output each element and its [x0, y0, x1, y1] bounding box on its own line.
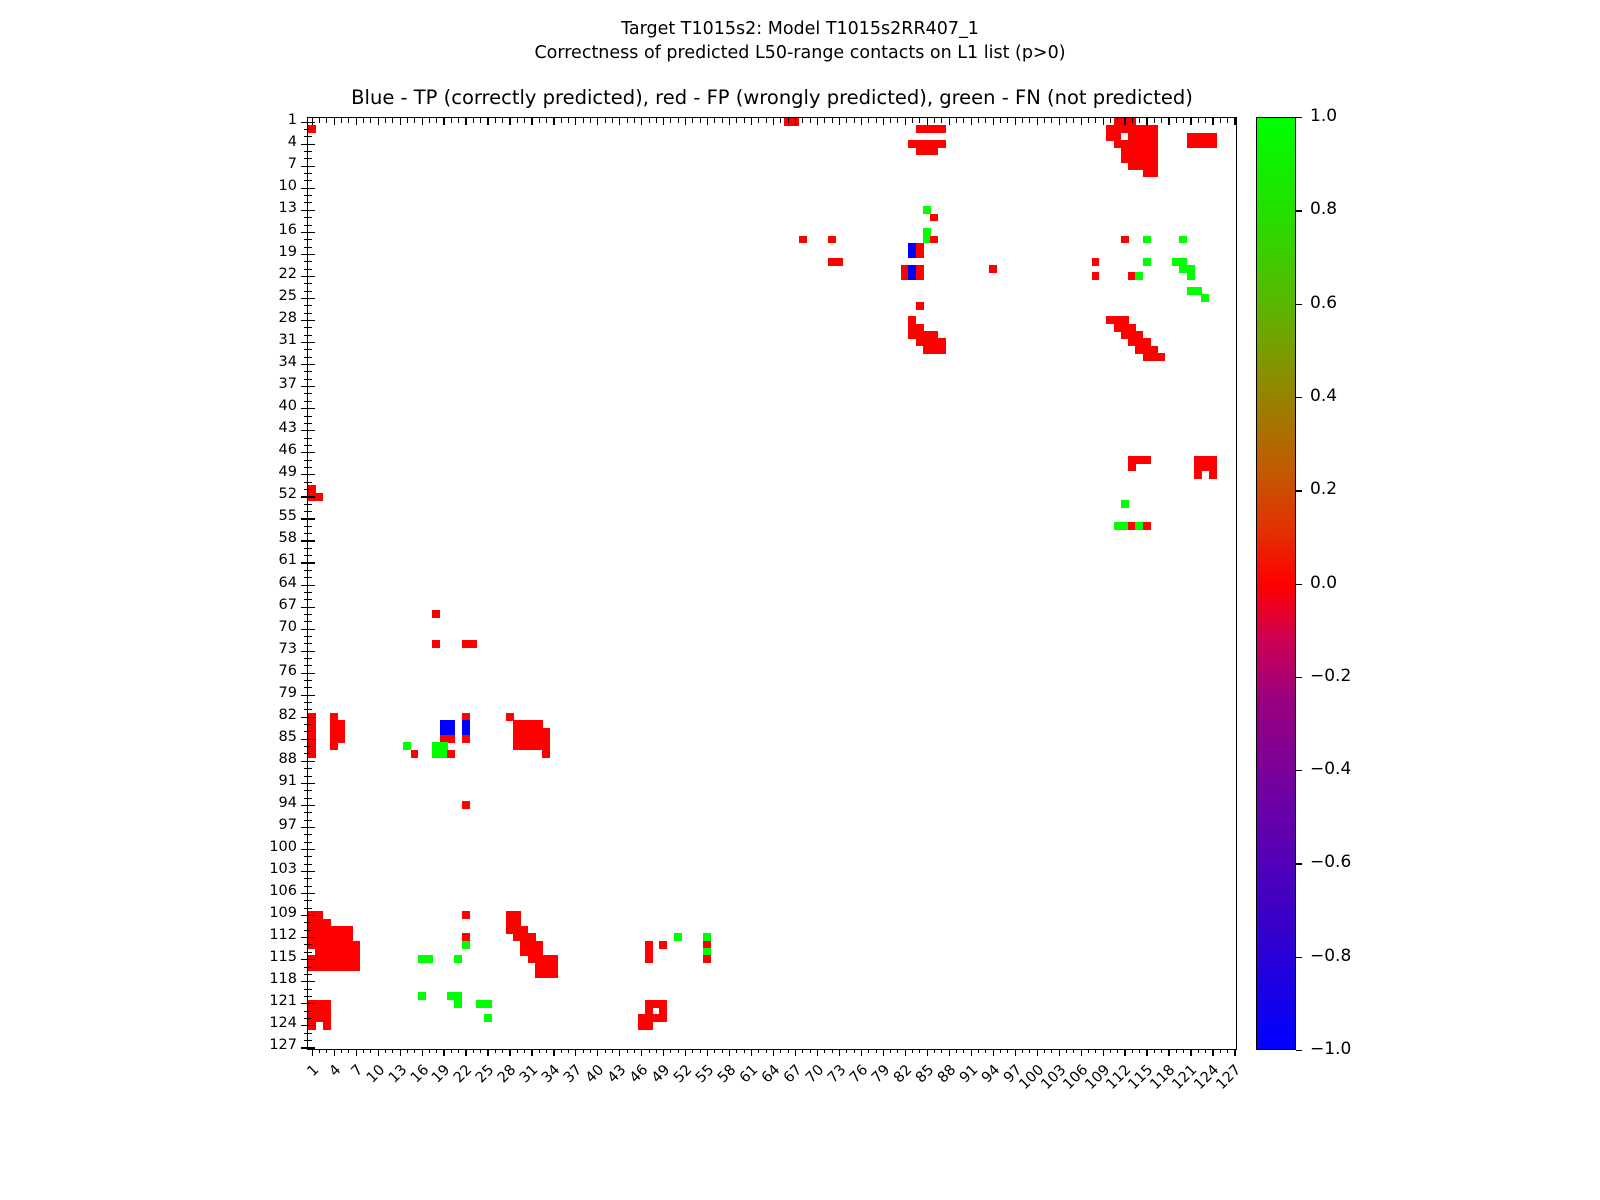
x-tick-minor — [678, 1049, 679, 1053]
y-tick-label: 4 — [0, 134, 297, 150]
x-tick-minor — [363, 1049, 364, 1053]
x-tick-top — [429, 118, 430, 123]
y-tick-inner — [308, 166, 315, 167]
x-tick-minor — [407, 1049, 408, 1053]
x-tick-minor — [744, 1049, 745, 1053]
y-tick-major — [301, 629, 308, 630]
y-tick-inner — [308, 555, 312, 556]
y-tick-label: 16 — [0, 222, 297, 238]
y-tick-inner — [308, 511, 312, 512]
x-tick-minor — [810, 1049, 811, 1053]
colorbar — [1256, 117, 1296, 1050]
x-tick-major — [949, 1049, 950, 1056]
y-tick-major — [301, 761, 308, 762]
contact-cell — [542, 750, 550, 758]
y-tick-label: 115 — [0, 949, 297, 965]
x-tick-top — [773, 118, 774, 125]
y-tick-inner — [308, 460, 312, 461]
y-tick-label: 13 — [0, 200, 297, 216]
y-tick-inner — [308, 158, 312, 159]
y-tick-inner — [308, 540, 315, 541]
x-tick-major — [883, 1049, 884, 1056]
colorbar-tick-label: −0.8 — [1310, 946, 1351, 966]
x-tick-top — [692, 118, 693, 123]
x-tick-top — [612, 118, 613, 123]
x-tick-top — [1220, 118, 1221, 123]
x-tick-minor — [868, 1049, 869, 1053]
y-tick-label: 1 — [0, 112, 297, 128]
y-tick-label: 106 — [0, 883, 297, 899]
y-tick-major — [301, 518, 308, 519]
contact-cell — [323, 1022, 331, 1030]
x-tick-top — [348, 118, 349, 123]
y-tick-inner — [308, 151, 312, 152]
y-tick-major — [301, 342, 308, 343]
x-tick-top — [839, 118, 840, 125]
x-tick-major — [817, 1049, 818, 1056]
contact-cell — [315, 493, 323, 501]
x-tick-top — [1234, 118, 1235, 125]
y-tick-inner — [308, 269, 312, 270]
x-tick-top — [1073, 118, 1074, 123]
x-tick-major — [971, 1049, 972, 1056]
contact-cell — [1135, 272, 1143, 280]
x-tick-major — [685, 1049, 686, 1056]
x-tick-major — [1212, 1049, 1213, 1056]
y-tick-inner — [308, 717, 315, 718]
y-tick-inner — [308, 768, 312, 769]
y-tick-inner — [308, 908, 312, 909]
y-tick-inner — [308, 1011, 312, 1012]
y-tick-label: 19 — [0, 244, 297, 260]
x-tick-top — [414, 118, 415, 123]
x-tick-top — [385, 118, 386, 123]
x-tick-top — [1146, 118, 1147, 125]
x-tick-top — [993, 118, 994, 125]
y-tick-inner — [308, 967, 312, 968]
y-tick-inner — [308, 731, 312, 732]
x-tick-top — [949, 118, 950, 125]
x-tick-top — [876, 118, 877, 123]
x-tick-top — [1124, 118, 1125, 125]
colorbar-tick — [1296, 210, 1302, 211]
x-tick-top — [1212, 118, 1213, 125]
x-tick-top — [1132, 118, 1133, 123]
x-tick-minor — [846, 1049, 847, 1053]
y-tick-inner — [308, 629, 315, 630]
y-tick-inner — [308, 239, 312, 240]
contact-cell — [418, 992, 426, 1000]
y-tick-major — [301, 1025, 308, 1026]
x-tick-top — [473, 118, 474, 123]
suptitle-line-1: Target T1015s2: Model T1015s2RR407_1 — [621, 19, 979, 39]
y-tick-major — [301, 673, 308, 674]
x-tick-top — [1227, 118, 1228, 123]
contact-cell — [1121, 500, 1129, 508]
colorbar-tick-label: 0.4 — [1310, 386, 1337, 406]
y-tick-inner — [308, 709, 312, 710]
y-tick-inner — [308, 592, 312, 593]
x-tick-minor — [1132, 1049, 1133, 1053]
y-tick-label: 85 — [0, 729, 297, 745]
x-tick-minor — [1183, 1049, 1184, 1053]
x-tick-minor — [714, 1049, 715, 1053]
y-tick-inner — [308, 430, 315, 431]
x-tick-minor — [912, 1049, 913, 1053]
x-tick-minor — [348, 1049, 349, 1053]
x-tick-top — [751, 118, 752, 125]
x-tick-major — [356, 1049, 357, 1056]
x-tick-top — [824, 118, 825, 123]
y-tick-inner — [308, 423, 312, 424]
y-tick-label: 31 — [0, 332, 297, 348]
y-tick-inner — [308, 225, 312, 226]
y-tick-inner — [308, 379, 312, 380]
y-tick-label: 97 — [0, 817, 297, 833]
x-tick-minor — [634, 1049, 635, 1053]
x-tick-major — [1234, 1049, 1235, 1056]
y-tick-inner — [308, 658, 312, 659]
colorbar-tick — [1296, 957, 1302, 958]
y-tick-label: 127 — [0, 1037, 297, 1053]
y-tick-major — [301, 849, 308, 850]
y-tick-label: 112 — [0, 927, 297, 943]
y-tick-inner — [308, 210, 315, 211]
x-tick-top — [1066, 118, 1067, 123]
y-tick-major — [301, 805, 308, 806]
y-tick-inner — [308, 805, 315, 806]
y-tick-major — [301, 276, 308, 277]
y-tick-inner — [308, 761, 315, 762]
y-tick-inner — [308, 864, 312, 865]
y-tick-label: 25 — [0, 288, 297, 304]
x-tick-minor — [919, 1049, 920, 1053]
contact-cell — [1194, 471, 1202, 479]
contact-cell — [411, 750, 419, 758]
x-tick-top — [766, 118, 767, 123]
x-tick-top — [641, 118, 642, 125]
x-tick-top — [341, 118, 342, 123]
y-tick-inner — [308, 871, 315, 872]
colorbar-tick — [1296, 490, 1302, 491]
x-tick-top — [883, 118, 884, 125]
y-tick-inner — [308, 607, 315, 608]
y-tick-inner — [308, 974, 312, 975]
x-tick-minor — [341, 1049, 342, 1053]
contact-map-matrix — [308, 118, 1236, 1049]
contact-cell — [425, 955, 433, 963]
y-tick-inner — [308, 173, 312, 174]
x-tick-major — [1124, 1049, 1125, 1056]
x-tick-minor — [1227, 1049, 1228, 1053]
x-tick-major — [707, 1049, 708, 1056]
contact-cell — [1114, 522, 1122, 530]
x-tick-top — [1037, 118, 1038, 125]
x-tick-minor — [436, 1049, 437, 1053]
x-tick-minor — [561, 1049, 562, 1053]
y-tick-inner — [308, 585, 315, 586]
x-tick-minor — [985, 1049, 986, 1053]
x-tick-minor — [392, 1049, 393, 1053]
y-tick-label: 67 — [0, 597, 297, 613]
y-tick-label: 70 — [0, 619, 297, 635]
x-tick-minor — [612, 1049, 613, 1053]
x-tick-top — [363, 118, 364, 123]
y-tick-label: 40 — [0, 398, 297, 414]
x-tick-minor — [854, 1049, 855, 1053]
x-tick-top — [905, 118, 906, 125]
contact-cell — [1187, 272, 1195, 280]
y-tick-label: 49 — [0, 464, 297, 480]
y-tick-label: 94 — [0, 795, 297, 811]
x-tick-top — [890, 118, 891, 123]
y-tick-inner — [308, 842, 312, 843]
x-tick-top — [1198, 118, 1199, 123]
colorbar-tick — [1296, 863, 1302, 864]
y-tick-inner — [308, 136, 312, 137]
x-tick-major — [861, 1049, 862, 1056]
y-tick-major — [301, 540, 308, 541]
y-tick-inner — [308, 144, 315, 145]
y-tick-major — [301, 695, 308, 696]
y-tick-major — [301, 562, 308, 563]
x-tick-minor — [700, 1049, 701, 1053]
x-tick-top — [531, 118, 532, 125]
y-tick-label: 109 — [0, 905, 297, 921]
x-tick-minor — [934, 1049, 935, 1053]
x-tick-minor — [1073, 1049, 1074, 1053]
y-tick-inner — [308, 1025, 315, 1026]
y-tick-major — [301, 651, 308, 652]
y-tick-inner — [308, 577, 312, 578]
contact-cell — [659, 941, 667, 949]
x-tick-top — [1161, 118, 1162, 123]
x-tick-minor — [1110, 1049, 1111, 1053]
x-tick-top — [1029, 118, 1030, 123]
y-tick-inner — [308, 695, 315, 696]
x-tick-minor — [480, 1049, 481, 1053]
x-tick-top — [649, 118, 650, 123]
x-tick-minor — [473, 1049, 474, 1053]
y-tick-major — [301, 474, 308, 475]
x-tick-minor — [1176, 1049, 1177, 1053]
x-tick-top — [919, 118, 920, 123]
contact-cell — [835, 258, 843, 266]
x-tick-top — [678, 118, 679, 123]
y-tick-label: 118 — [0, 971, 297, 987]
contact-cell — [1092, 272, 1100, 280]
x-tick-minor — [1022, 1049, 1023, 1053]
y-tick-inner — [308, 614, 312, 615]
y-tick-inner — [308, 959, 315, 960]
x-tick-top — [1176, 118, 1177, 123]
contact-cell — [447, 735, 455, 743]
x-tick-top — [465, 118, 466, 125]
x-tick-major — [993, 1049, 994, 1056]
x-tick-major — [334, 1049, 335, 1056]
x-tick-minor — [1220, 1049, 1221, 1053]
contact-cell — [447, 750, 455, 758]
y-tick-major — [301, 607, 308, 608]
x-tick-minor — [1117, 1049, 1118, 1053]
x-tick-minor — [780, 1049, 781, 1053]
x-tick-top — [458, 118, 459, 123]
x-tick-major — [663, 1049, 664, 1056]
y-tick-major — [301, 937, 308, 938]
contact-cell — [1121, 236, 1129, 244]
x-tick-top — [941, 118, 942, 123]
y-tick-inner — [308, 408, 315, 409]
x-tick-top — [400, 118, 401, 125]
y-tick-inner — [308, 812, 312, 813]
y-tick-inner — [308, 673, 315, 674]
y-tick-major — [301, 210, 308, 211]
colorbar-tick — [1296, 304, 1302, 305]
contact-cell — [454, 955, 462, 963]
x-tick-top — [1117, 118, 1118, 123]
contact-cell — [432, 610, 440, 618]
x-tick-top — [854, 118, 855, 123]
y-tick-inner — [308, 518, 315, 519]
x-tick-top — [985, 118, 986, 123]
x-tick-minor — [978, 1049, 979, 1053]
y-tick-inner — [308, 548, 312, 549]
contact-cell — [938, 346, 946, 354]
x-tick-major — [465, 1049, 466, 1056]
x-tick-top — [1000, 118, 1001, 123]
contact-cell — [1209, 140, 1217, 148]
x-tick-minor — [890, 1049, 891, 1053]
contact-cell — [1179, 236, 1187, 244]
x-tick-minor — [1095, 1049, 1096, 1053]
colorbar-tick-label: 1.0 — [1310, 106, 1337, 126]
y-tick-label: 103 — [0, 861, 297, 877]
figure-canvas: Target T1015s2: Model T1015s2RR407_1 Cor… — [0, 0, 1600, 1200]
x-tick-major — [1081, 1049, 1082, 1056]
y-tick-major — [301, 232, 308, 233]
colorbar-tick-label: 0.6 — [1310, 293, 1337, 313]
y-tick-inner — [308, 327, 312, 328]
x-tick-top — [539, 118, 540, 123]
y-tick-inner — [308, 900, 312, 901]
x-tick-major — [773, 1049, 774, 1056]
y-tick-inner — [308, 724, 312, 725]
x-tick-top — [1154, 118, 1155, 123]
x-tick-minor — [1000, 1049, 1001, 1053]
y-tick-label: 73 — [0, 641, 297, 657]
x-tick-minor — [766, 1049, 767, 1053]
x-tick-top — [517, 118, 518, 123]
y-tick-inner — [308, 952, 312, 953]
suptitle-line-2: Correctness of predicted L50-range conta… — [0, 42, 1600, 66]
contact-cell — [1143, 258, 1151, 266]
x-tick-top — [670, 118, 671, 123]
x-tick-top — [1088, 118, 1089, 123]
contact-cell — [432, 640, 440, 648]
y-tick-major — [301, 386, 308, 387]
x-tick-top — [729, 118, 730, 125]
contact-cell — [799, 236, 807, 244]
y-tick-label: 37 — [0, 376, 297, 392]
contact-cell — [1143, 236, 1151, 244]
y-tick-label: 28 — [0, 310, 297, 326]
x-tick-major — [1190, 1049, 1191, 1056]
y-tick-major — [301, 298, 308, 299]
x-tick-major — [795, 1049, 796, 1056]
x-tick-minor — [722, 1049, 723, 1053]
x-tick-major — [531, 1049, 532, 1056]
x-tick-minor — [524, 1049, 525, 1053]
x-tick-minor — [897, 1049, 898, 1053]
y-tick-major — [301, 408, 308, 409]
y-tick-inner — [308, 188, 315, 189]
y-tick-major — [301, 959, 308, 960]
x-tick-top — [934, 118, 935, 123]
y-tick-inner — [308, 599, 312, 600]
x-tick-top — [1183, 118, 1184, 123]
x-tick-top — [868, 118, 869, 123]
y-tick-inner — [308, 651, 315, 652]
figure-suptitle: Target T1015s2: Model T1015s2RR407_1 Cor… — [0, 18, 1600, 65]
contact-cell — [1201, 294, 1209, 302]
x-tick-major — [1103, 1049, 1104, 1056]
x-tick-top — [1044, 118, 1045, 123]
x-tick-major — [751, 1049, 752, 1056]
x-tick-minor — [832, 1049, 833, 1053]
x-tick-top — [861, 118, 862, 125]
y-tick-inner — [308, 1040, 312, 1041]
x-tick-minor — [502, 1049, 503, 1053]
x-tick-minor — [546, 1049, 547, 1053]
y-tick-label: 124 — [0, 1015, 297, 1031]
x-tick-minor — [326, 1049, 327, 1053]
contact-cell — [916, 302, 924, 310]
x-tick-major — [400, 1049, 401, 1056]
contact-cell — [454, 1000, 462, 1008]
contact-cell — [462, 941, 470, 949]
colorbar-tick-label: 0.2 — [1310, 479, 1337, 499]
x-tick-top — [1168, 118, 1169, 125]
x-tick-major — [641, 1049, 642, 1056]
x-tick-minor — [876, 1049, 877, 1053]
y-tick-inner — [308, 922, 312, 923]
y-tick-label: 76 — [0, 663, 297, 679]
y-tick-inner — [308, 886, 312, 887]
contact-cell — [330, 742, 338, 750]
colorbar-tick — [1296, 397, 1302, 398]
y-tick-inner — [308, 834, 312, 835]
y-tick-inner — [308, 416, 312, 417]
x-tick-minor — [1205, 1049, 1206, 1053]
y-tick-major — [301, 144, 308, 145]
x-tick-minor — [656, 1049, 657, 1053]
x-tick-top — [1015, 118, 1016, 125]
x-tick-minor — [458, 1049, 459, 1053]
y-tick-inner — [308, 261, 312, 262]
x-tick-top — [700, 118, 701, 123]
y-tick-inner — [308, 893, 315, 894]
x-tick-minor — [495, 1049, 496, 1053]
y-tick-inner — [308, 386, 315, 387]
y-tick-inner — [308, 996, 312, 997]
colorbar-tick-label: −0.4 — [1310, 759, 1351, 779]
y-tick-major — [301, 166, 308, 167]
x-tick-top — [1022, 118, 1023, 123]
x-tick-major — [1168, 1049, 1169, 1056]
y-tick-inner — [308, 298, 315, 299]
x-tick-minor — [370, 1049, 371, 1053]
contact-cell — [674, 933, 682, 941]
